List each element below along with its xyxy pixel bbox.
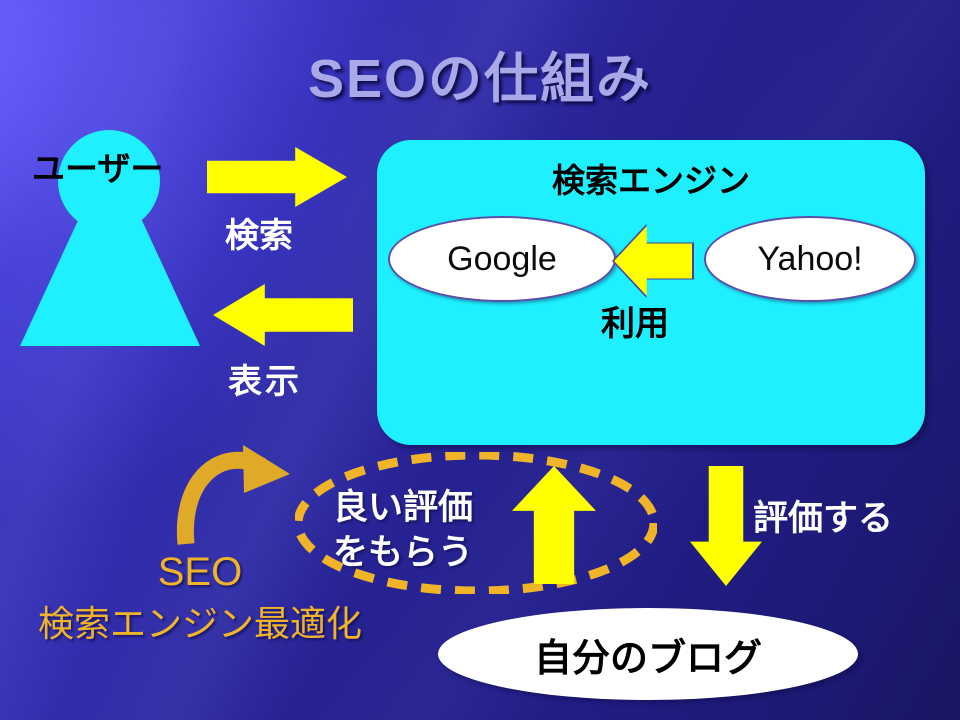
user-label: ユーザー [32,142,163,190]
blog-oval: 自分のブログ [438,608,858,700]
arrow-down-evaluate-icon [690,466,762,586]
seo-acronym-label: SEO [0,550,400,595]
user-body-shape [20,198,200,346]
search-engine-panel: 検索エンジン Google Yahoo! [377,140,925,445]
curved-arrow-seo-icon [170,440,310,550]
display-flow-label: 表示 [228,354,302,403]
search-engine-title: 検索エンジン [377,154,925,202]
page-title: SEOの仕組み [0,34,960,113]
provider-oval-google: Google [388,216,616,302]
search-flow-label: 検索 [225,208,293,257]
provider-oval-yahoo: Yahoo! [704,216,916,302]
evaluate-flow-label: 評価する [753,490,893,541]
seo-diagram-slide: SEOの仕組み ユーザー 検索 表示 検索エンジン Google Yahoo! … [0,0,960,720]
use-flow-label: 利用 [601,296,669,345]
seo-expansion-label: 検索エンジン最適化 [0,595,400,647]
arrow-left-display-icon [213,284,353,346]
good-rating-line1: 良い評価 [333,486,473,531]
arrow-right-search-icon [207,147,347,207]
